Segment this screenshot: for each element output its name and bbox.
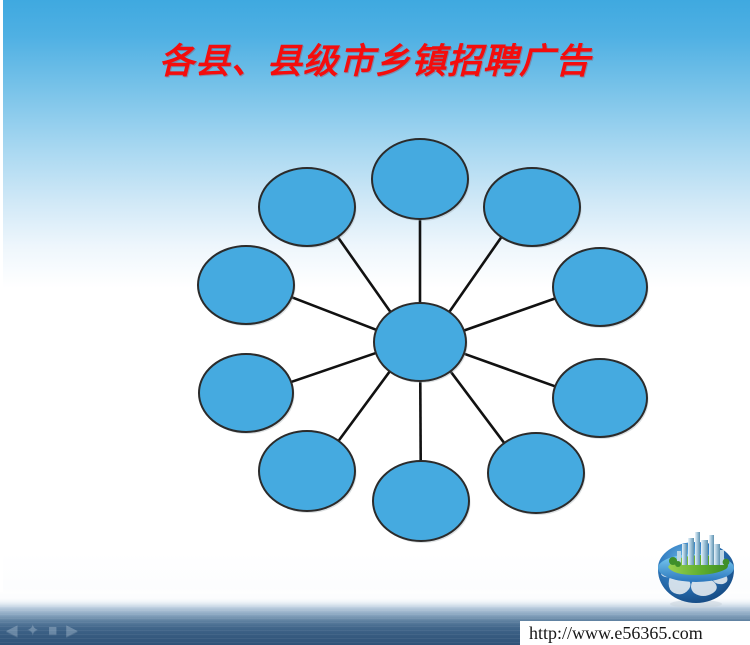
slide-canvas: ◀ ✦ ■ ▶ 各县、县级市乡镇招聘广告 [0,0,750,645]
nav-stop-icon: ■ [48,623,57,638]
node-upper-right[interactable] [484,168,580,246]
radial-diagram [180,130,660,550]
center-node-group [374,303,468,383]
spoke-node-right-lower [463,353,556,386]
nav-forward-icon: ▶ [66,623,78,638]
nav-back-icon: ◀ [6,623,18,638]
navigation-glyph-group: ◀ ✦ ■ ▶ [6,620,111,640]
spoke-node-lower-right [450,370,505,443]
node-right-upper[interactable] [553,248,647,326]
node-left-upper[interactable] [198,246,294,324]
node-right-lower[interactable] [553,359,647,437]
center-node[interactable] [374,303,466,381]
url-watermark-bar: http://www.e56365.com [520,621,750,645]
globe-city-logo [648,524,744,610]
node-bottom[interactable] [373,461,469,541]
node-lower-right[interactable] [488,433,584,513]
spoke-node-left-upper [291,297,378,330]
node-left-lower[interactable] [199,354,293,432]
nav-star-icon: ✦ [27,623,40,638]
node-lower-left[interactable] [259,431,355,511]
spoke-node-left-lower [290,353,377,383]
node-upper-left[interactable] [259,168,355,246]
node-top[interactable] [372,139,468,219]
spoke-node-right-upper [463,298,556,331]
page-title: 各县、县级市乡镇招聘广告 [0,40,750,84]
spoke-node-upper-right [449,236,502,313]
spoke-node-lower-left [338,371,390,442]
spoke-node-upper-left [337,236,391,313]
watermark-url: http://www.e56365.com [520,623,703,643]
